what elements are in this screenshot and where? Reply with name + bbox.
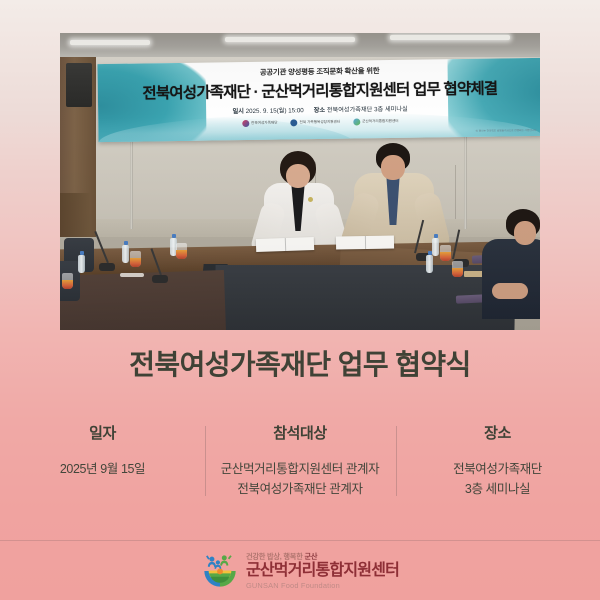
signing-document-left bbox=[256, 237, 314, 252]
banner-datetime-value: 2025. 9. 15(월) 15:00 bbox=[246, 107, 304, 115]
water-bottle bbox=[78, 255, 85, 273]
footer-org-name-en: GUNSAN Food Foundation bbox=[246, 582, 399, 589]
banner-place: 장소 전북여성가족재단 3층 세미나실 bbox=[314, 104, 408, 114]
footer-tagline: 건강한 밥상, 행복한 군산 bbox=[246, 553, 399, 560]
person-face bbox=[514, 221, 536, 245]
signing-document-right bbox=[336, 235, 394, 249]
fruit-cup bbox=[176, 243, 187, 259]
microphone-base bbox=[152, 275, 168, 283]
fruit bbox=[440, 252, 451, 261]
jggc-logo-icon bbox=[290, 119, 297, 126]
person-torso bbox=[482, 239, 540, 319]
banner-subtitle: 공공기관 양성평등 조직문화 확산을 위한 bbox=[260, 65, 380, 78]
fruit bbox=[62, 280, 73, 289]
banner-sponsor-logos: 전북여성가족재단 전북 가족행복성장지원센터 군산먹거리통합지원센터 bbox=[242, 118, 399, 127]
info-heading-date: 일자 bbox=[14, 422, 191, 443]
gunsan-food-logo-icon bbox=[353, 118, 360, 125]
info-value-date: 2025년 9월 15일 bbox=[14, 459, 191, 479]
event-announcement-card: 공공기관 양성평등 조직문화 확산을 위한 전북여성가족재단 · 군산먹거리통합… bbox=[0, 0, 600, 600]
footer-tagline-prefix: 건강한 밥상, 행복한 bbox=[246, 552, 305, 561]
banner-place-label: 장소 bbox=[314, 107, 325, 114]
banner-pole-right bbox=[464, 137, 467, 229]
jbwf-logo-icon bbox=[242, 120, 249, 127]
gunsan-food-foundation-emblem-icon bbox=[201, 552, 239, 590]
water-bottle bbox=[122, 245, 129, 263]
event-banner: 공공기관 양성평등 조직문화 확산을 위한 전북여성가족재단 · 군산먹거리통합… bbox=[97, 58, 540, 142]
table-front-panel-left bbox=[60, 270, 226, 330]
fruit bbox=[130, 258, 141, 267]
page-title: 전북여성가족재단 업무 협약식 bbox=[0, 348, 600, 382]
person-face bbox=[286, 164, 310, 188]
fruit-cup bbox=[440, 245, 451, 261]
sponsor-logo-label: 군산먹거리통합지원센터 bbox=[362, 119, 398, 125]
document-fold bbox=[365, 236, 366, 249]
person-face bbox=[381, 155, 405, 180]
info-column-attendees: 참석대상 군산먹거리통합지원센터 관계자 전북여성가족재단 관계자 bbox=[205, 422, 395, 500]
sponsor-logo-label: 전북 가족행복성장지원센터 bbox=[299, 120, 340, 126]
banner-details: 일시 2025. 9. 15(월) 15:00 장소 전북여성가족재단 3층 세… bbox=[233, 104, 408, 115]
footer-divider bbox=[0, 540, 600, 541]
sponsor-logo-label: 전북여성가족재단 bbox=[251, 121, 278, 126]
person-badge bbox=[308, 197, 313, 202]
ceiling-light bbox=[225, 37, 355, 42]
column-divider bbox=[205, 426, 206, 496]
plate bbox=[120, 273, 144, 277]
footer-branding: 건강한 밥상, 행복한 군산 군산먹거리통합지원센터 GUNSAN Food F… bbox=[0, 552, 600, 590]
ceiling-light bbox=[70, 40, 150, 45]
banner-place-value: 전북여성가족재단 3층 세미나실 bbox=[327, 106, 408, 114]
sponsor-logo-gunsan: 군산먹거리통합지원센터 bbox=[353, 118, 398, 126]
fruit bbox=[176, 250, 187, 259]
info-value-place-2: 3층 세미나실 bbox=[409, 479, 586, 499]
fruit-cup bbox=[452, 261, 463, 277]
microphone-base bbox=[99, 263, 115, 271]
ceiling-light bbox=[390, 35, 510, 40]
footer-text-block: 건강한 밥상, 행복한 군산 군산먹거리통합지원센터 GUNSAN Food F… bbox=[246, 553, 399, 589]
sponsor-logo-jbwf: 전북여성가족재단 bbox=[242, 120, 278, 127]
fruit bbox=[452, 268, 463, 277]
info-heading-attendees: 참석대상 bbox=[219, 422, 381, 443]
wall-speaker bbox=[66, 63, 92, 107]
banner-fineprint: 이 행사는 전라북도 성평등기금으로 진행되는 사업입니다 bbox=[476, 128, 537, 133]
info-column-place: 장소 전북여성가족재단 3층 세미나실 bbox=[395, 422, 600, 500]
water-bottle bbox=[426, 255, 433, 273]
info-row: 일자 2025년 9월 15일 참석대상 군산먹거리통합지원센터 관계자 전북여… bbox=[0, 422, 600, 500]
footer-org-name: 군산먹거리통합지원센터 bbox=[246, 563, 399, 580]
banner-title: 전북여성가족재단 · 군산먹거리통합지원센터 업무 협약체결 bbox=[142, 77, 497, 104]
info-heading-place: 장소 bbox=[409, 422, 586, 443]
footer-tagline-accent: 군산 bbox=[304, 552, 317, 561]
person-seated-right bbox=[476, 209, 540, 329]
info-value-attendees-2: 전북여성가족재단 관계자 bbox=[219, 479, 381, 499]
person-hands bbox=[492, 283, 528, 299]
ceiling bbox=[60, 33, 540, 59]
info-column-date: 일자 2025년 9월 15일 bbox=[0, 422, 205, 479]
info-value-attendees-1: 군산먹거리통합지원센터 관계자 bbox=[219, 459, 381, 479]
column-divider bbox=[396, 426, 397, 496]
banner-datetime: 일시 2025. 9. 15(월) 15:00 bbox=[233, 105, 304, 115]
sponsor-logo-jggc: 전북 가족행복성장지원센터 bbox=[290, 119, 340, 127]
fruit-cup bbox=[130, 251, 141, 267]
event-photo: 공공기관 양성평등 조직문화 확산을 위한 전북여성가족재단 · 군산먹거리통합… bbox=[60, 33, 540, 330]
info-value-place-1: 전북여성가족재단 bbox=[409, 459, 586, 479]
banner-pole-left bbox=[130, 137, 133, 229]
water-bottle bbox=[432, 238, 439, 256]
photo-scene: 공공기관 양성평등 조직문화 확산을 위한 전북여성가족재단 · 군산먹거리통합… bbox=[60, 33, 540, 330]
banner-datetime-label: 일시 bbox=[233, 108, 244, 115]
document-fold bbox=[285, 238, 286, 251]
fruit-cup bbox=[62, 273, 73, 289]
